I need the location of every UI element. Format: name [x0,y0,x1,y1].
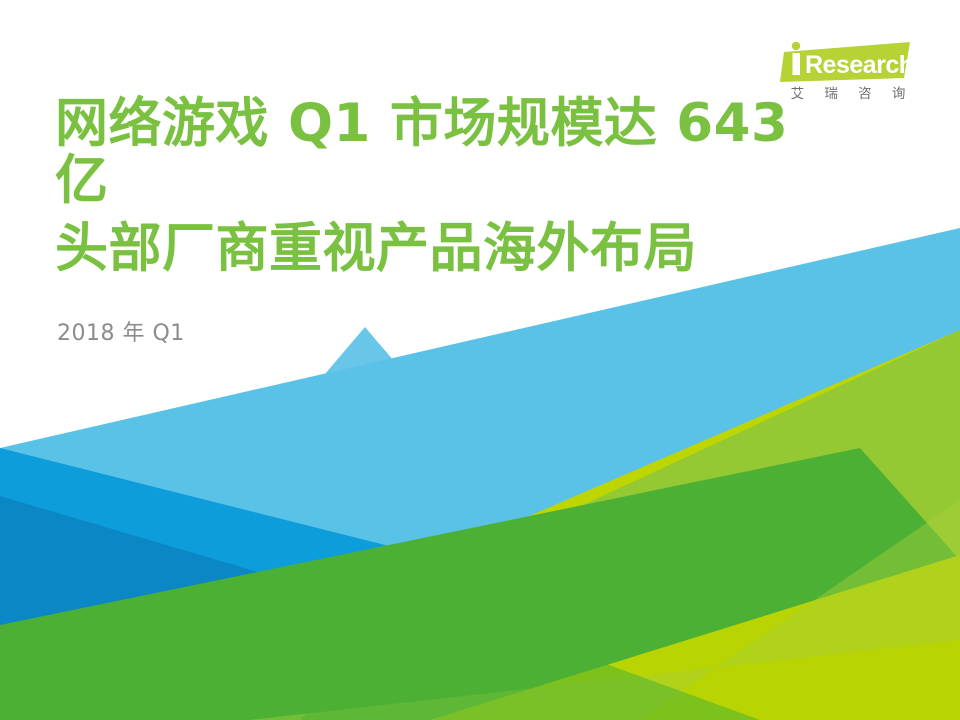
svg-text:Research: Research [805,51,914,79]
iresearch-logo-mark: Research [778,38,916,84]
logo-chinese-name: 艾 瑞 咨 询 [778,87,918,102]
slide-root: Research 艾 瑞 咨 询 网络游戏 Q1 市场规模达 643亿 头部厂商… [0,0,960,720]
title-block: 网络游戏 Q1 市场规模达 643亿 头部厂商重视产品海外布局 2018 年 Q… [55,96,845,347]
slide-title: 网络游戏 Q1 市场规模达 643亿 [55,96,825,209]
iresearch-logo: Research 艾 瑞 咨 询 [778,38,918,102]
slide-date-label: 2018 年 Q1 [57,315,845,347]
logo-green-banner-icon: Research [778,38,916,84]
slide-subtitle: 头部厂商重视产品海外布局 [55,219,845,278]
